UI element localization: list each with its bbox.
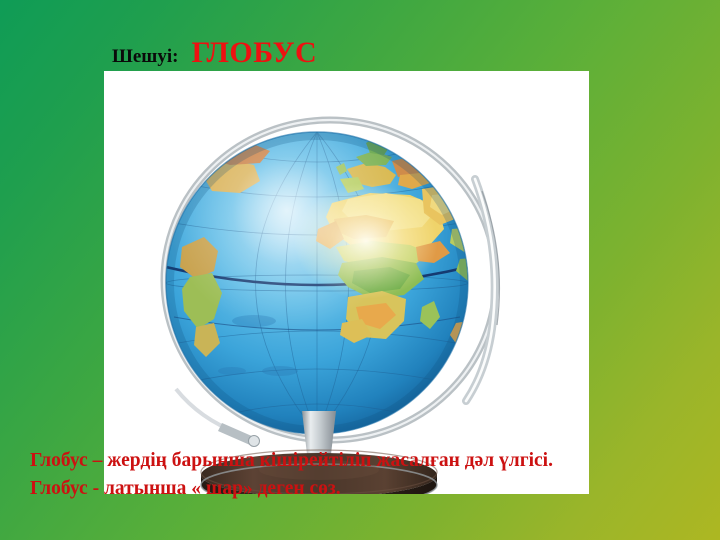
answer-word: ГЛОБУС (191, 36, 317, 70)
globe-sphere (166, 132, 496, 434)
caption-block: Глобус – жердің барынша кішірейтіліп жас… (30, 447, 553, 503)
globe-image (104, 71, 589, 494)
answer-label: Шешуі: (112, 46, 178, 68)
picture-panel (104, 71, 589, 494)
caption-line-2: Глобус - латынша « шар» деген сөз. (30, 475, 553, 503)
answer-title: Шешуі: ГЛОБУС (112, 36, 317, 70)
caption-line-1: Глобус – жердің барынша кішірейтіліп жас… (30, 447, 553, 475)
slide-canvas: Шешуі: ГЛОБУС Глобус – жердің барынша кі… (0, 0, 720, 540)
